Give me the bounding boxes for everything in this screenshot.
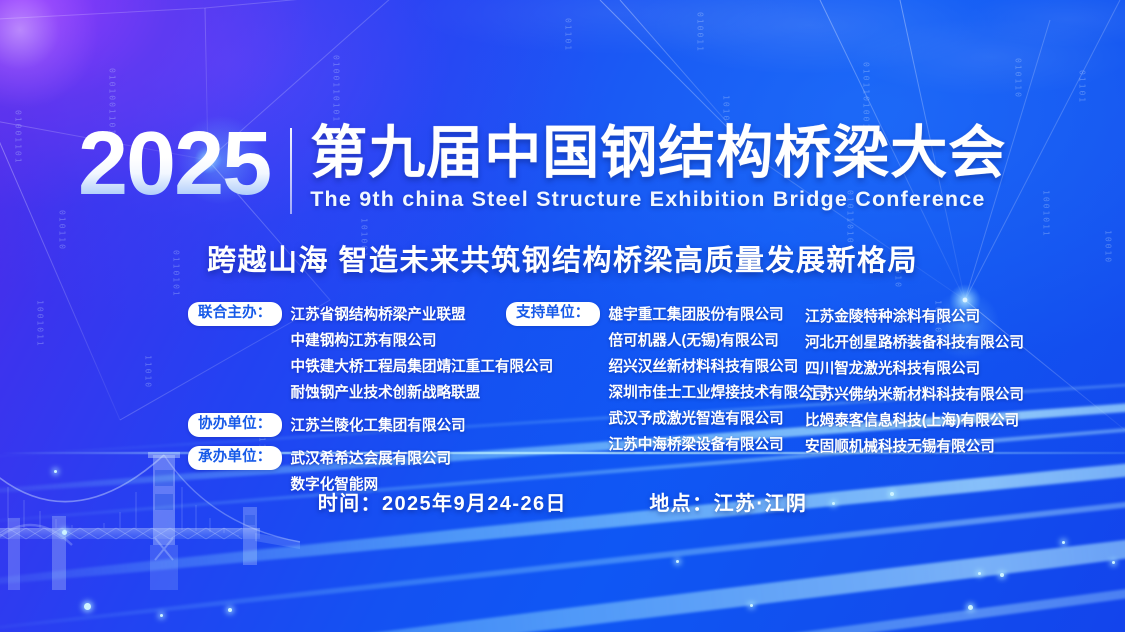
organizer-item: 绍兴汉丝新材料科技有限公司 [609,354,828,380]
organizer-item: 江苏兰陵化工集团有限公司 [291,413,466,439]
footer-info: 时间：2025年9月24-26日 地点：江苏·江阴 [0,487,1125,516]
organizer-column-middle: 支持单位： 雄宇重工集团股份有限公司 倍可机器人(无锡)有限公司 绍兴汉丝新材料… [506,302,806,465]
label-undertaker: 承办单位： [188,446,282,470]
conference-title-en: The 9th china Steel Structure Exhibition… [310,187,1006,212]
organizer-lines: 雄宇重工集团股份有限公司 倍可机器人(无锡)有限公司 绍兴汉丝新材料科技有限公司… [609,302,828,458]
organizer-item: 河北开创星路桥装备科技有限公司 [805,330,1050,356]
organizer-item: 倍可机器人(无锡)有限公司 [609,328,828,354]
organizer-group: 支持单位： 雄宇重工集团股份有限公司 倍可机器人(无锡)有限公司 绍兴汉丝新材料… [506,302,806,458]
organizer-item: 江苏金陵特种涂料有限公司 [805,304,1050,330]
label-co-organizer: 协办单位： [188,413,282,437]
organizer-item: 深圳市佳士工业焊接技术有限公司 [609,380,828,406]
organizer-column-right: 江苏金陵特种涂料有限公司 河北开创星路桥装备科技有限公司 四川智龙激光科技有限公… [805,302,1050,460]
title-divider [290,128,292,214]
conference-title-cn: 第九届中国钢结构桥梁大会 [310,124,1006,182]
organizer-item: 武汉予成激光智造有限公司 [609,406,828,432]
label-co-host: 联合主办： [188,302,282,326]
organizer-item: 江苏兴佛纳米新材料科技有限公司 [805,382,1050,408]
organizer-column-left: 联合主办： 江苏省钢结构桥梁产业联盟 中建钢构江苏有限公司 中铁建大桥工程局集团… [188,302,498,505]
conference-slogan: 跨越山海 智造未来共筑钢结构桥梁高质量发展新格局 [0,237,1125,279]
organizer-item: 武汉希希达会展有限公司 [291,446,452,472]
organizer-group: 协办单位： 江苏兰陵化工集团有限公司 [188,413,498,439]
organizer-item: 比姆泰客信息科技(上海)有限公司 [805,408,1050,434]
headline-row: 2025 第九届中国钢结构桥梁大会 The 9th china Steel St… [78,122,1006,214]
organizer-lines: 江苏兰陵化工集团有限公司 [291,413,466,439]
organizer-item: 江苏中海桥梁设备有限公司 [609,432,828,458]
organizer-group: 联合主办： 江苏省钢结构桥梁产业联盟 中建钢构江苏有限公司 中铁建大桥工程局集团… [188,302,498,406]
title-block: 第九届中国钢结构桥梁大会 The 9th china Steel Structu… [310,122,1006,212]
organizer-item: 四川智龙激光科技有限公司 [805,356,1050,382]
organizer-item: 雄宇重工集团股份有限公司 [609,302,828,328]
label-supporter: 支持单位： [506,302,600,326]
organizer-item: 安固顺机械科技无锡有限公司 [805,434,1050,460]
event-location: 地点：江苏·江阴 [649,487,807,516]
banner-content: 2025 第九届中国钢结构桥梁大会 The 9th china Steel St… [0,0,1125,632]
event-date: 时间：2025年9月24-26日 [318,487,567,516]
conference-banner: 01001101 1001011 010110 0101001101 11010… [0,0,1125,632]
year-2025: 2025 [78,122,270,208]
